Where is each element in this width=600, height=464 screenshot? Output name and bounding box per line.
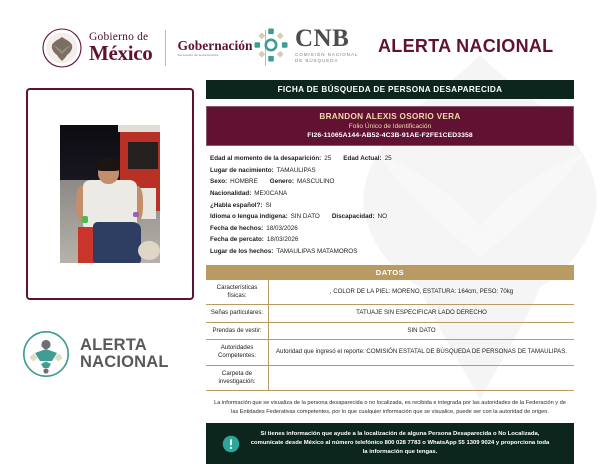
datos-row-key: Autoridades Competentes: — [206, 340, 269, 365]
fact-value: MEXICANA — [254, 190, 287, 197]
exclamation-icon — [222, 435, 240, 453]
table-row: Señas particulares:TATUAJE SIN ESPECIFIC… — [206, 305, 574, 323]
fact-row: Idioma o lengua indígena:SIN DATODiscapa… — [210, 211, 574, 223]
table-row: Autoridades Competentes:Autoridad que in… — [206, 340, 574, 365]
fact-row: Edad al momento de la desaparición:25Eda… — [210, 153, 574, 165]
cnb-emblem-icon — [253, 27, 289, 63]
fact-value: 18/03/2026 — [267, 236, 299, 243]
fact-row: ¿Habla español?:SI — [210, 200, 574, 212]
fact-row: Nacionalidad:MEXICANA — [210, 188, 574, 200]
page-header: Gobierno de México Gobernación Secretarí… — [0, 0, 600, 76]
datos-row-value: SIN DATO — [269, 322, 575, 340]
datos-row-value: TATUAJE SIN ESPECIFICAR LADO DERECHO — [269, 305, 575, 323]
contact-banner: Si tienes información que ayude a la loc… — [206, 423, 574, 464]
alerta-nacional-emblem-icon — [22, 330, 70, 378]
gobierno-de-mexico-text: Gobierno de México — [89, 32, 153, 64]
person-name: BRANDON ALEXIS OSORIO VERA — [207, 112, 573, 121]
alerta-nacional-logo: ALERTA NACIONAL — [22, 330, 169, 378]
person-photo — [60, 125, 160, 263]
gobernacion-label: Gobernación — [178, 39, 253, 53]
fact-value-secondary: 25 — [385, 155, 392, 162]
datos-section-header: DATOS — [206, 265, 574, 280]
cnb-line-2: DE BÚSQUEDA — [295, 59, 358, 64]
alerta-logo-line-1: ALERTA — [80, 337, 169, 354]
person-photo-frame — [26, 88, 194, 300]
gobernacion-sublabel: Secretaría de Gobernación — [178, 54, 253, 57]
person-identity-box: BRANDON ALEXIS OSORIO VERA Folio Único d… — [206, 106, 574, 146]
person-facts-list: Edad al momento de la desaparición:25Eda… — [206, 153, 574, 258]
fact-label: Edad al momento de la desaparición: — [210, 155, 321, 162]
folio-label: Folio Único de Identificación — [207, 123, 573, 130]
alert-card: FICHA DE BÚSQUEDA DE PERSONA DESAPARECID… — [206, 80, 574, 464]
fact-value: TAMAULIPAS — [277, 167, 316, 174]
datos-row-key: Características físicas: — [206, 280, 269, 305]
datos-row-value: , COLOR DE LA PIEL: MORENO, ESTATURA: 16… — [269, 280, 575, 305]
datos-table: Características físicas:, COLOR DE LA PI… — [206, 280, 574, 391]
fact-value: SI — [265, 202, 271, 209]
datos-row-value — [269, 365, 575, 390]
cnb-acronym: CNB — [295, 26, 358, 51]
table-row: Prendas de vestir:SIN DATO — [206, 322, 574, 340]
fact-value-secondary: MASCULINO — [297, 178, 334, 185]
fact-label: ¿Habla español?: — [210, 202, 262, 209]
alerta-nacional-wordmark: ALERTA NACIONAL — [80, 337, 169, 371]
fact-label: Nacionalidad: — [210, 190, 251, 197]
contact-text: Si tienes información que ayude a la loc… — [250, 430, 566, 457]
datos-row-key: Prendas de vestir: — [206, 322, 269, 340]
fact-label: Idioma o lengua indígena: — [210, 213, 288, 220]
datos-table-body: Características físicas:, COLOR DE LA PI… — [206, 280, 574, 391]
datos-row-value: Autoridad que ingresó el reporte: COMISI… — [269, 340, 575, 365]
fact-row: Lugar de nacimiento:TAMAULIPAS — [210, 165, 574, 177]
alerta-logo-line-2: NACIONAL — [80, 354, 169, 371]
fact-label: Sexo: — [210, 178, 227, 185]
header-divider-1 — [165, 30, 166, 66]
cnb-wordmark: CNB COMISIÓN NACIONAL DE BÚSQUEDA — [295, 26, 358, 63]
table-row: Características físicas:, COLOR DE LA PI… — [206, 280, 574, 305]
fact-label-secondary: Edad Actual: — [343, 155, 381, 162]
fact-value-secondary: NO — [378, 213, 387, 220]
table-row: Carpeta de investigación: — [206, 365, 574, 390]
cnb-line-1: COMISIÓN NACIONAL — [295, 53, 358, 58]
fact-row: Lugar de los hechos:TAMAULIPAS MATAMOROS — [210, 246, 574, 258]
fact-value: SIN DATO — [291, 213, 320, 220]
fact-label: Fecha de percato: — [210, 236, 264, 243]
fact-value: 18/03/2026 — [266, 225, 298, 232]
gobernacion-logo: Gobernación Secretaría de Gobernación — [178, 39, 253, 58]
alert-page: Gobierno de México Gobernación Secretarí… — [0, 0, 600, 464]
gob-line-2: México — [89, 43, 153, 64]
page-title: ALERTA NACIONAL — [378, 36, 553, 57]
folio-value: FI26-11065A144-AB52-4C3B-91AE-F2FE1CED33… — [207, 132, 573, 139]
ficha-title-bar: FICHA DE BÚSQUEDA DE PERSONA DESAPARECID… — [206, 80, 574, 99]
cnb-logo: CNB COMISIÓN NACIONAL DE BÚSQUEDA — [253, 26, 358, 63]
fact-label-secondary: Discapacidad: — [332, 213, 375, 220]
fact-row: Sexo:HOMBREGenero:MASCULINO — [210, 176, 574, 188]
fact-label: Fecha de hechos: — [210, 225, 263, 232]
fact-value: TAMAULIPAS MATAMOROS — [276, 248, 357, 255]
fact-label: Lugar de los hechos: — [210, 248, 273, 255]
disclaimer-text: La información que se visualiza de la pe… — [206, 399, 574, 416]
datos-row-key: Carpeta de investigación: — [206, 365, 269, 390]
fact-value: 25 — [324, 155, 331, 162]
fact-value: HOMBRE — [230, 178, 258, 185]
fact-row: Fecha de percato:18/03/2026 — [210, 234, 574, 246]
gobierno-de-mexico-logo: Gobierno de México Gobernación Secretarí… — [42, 27, 278, 69]
fact-label: Lugar de nacimiento: — [210, 167, 274, 174]
datos-row-key: Señas particulares: — [206, 305, 269, 323]
mexican-eagle-icon — [42, 28, 82, 68]
fact-row: Fecha de hechos:18/03/2026 — [210, 223, 574, 235]
fact-label-secondary: Genero: — [270, 178, 294, 185]
